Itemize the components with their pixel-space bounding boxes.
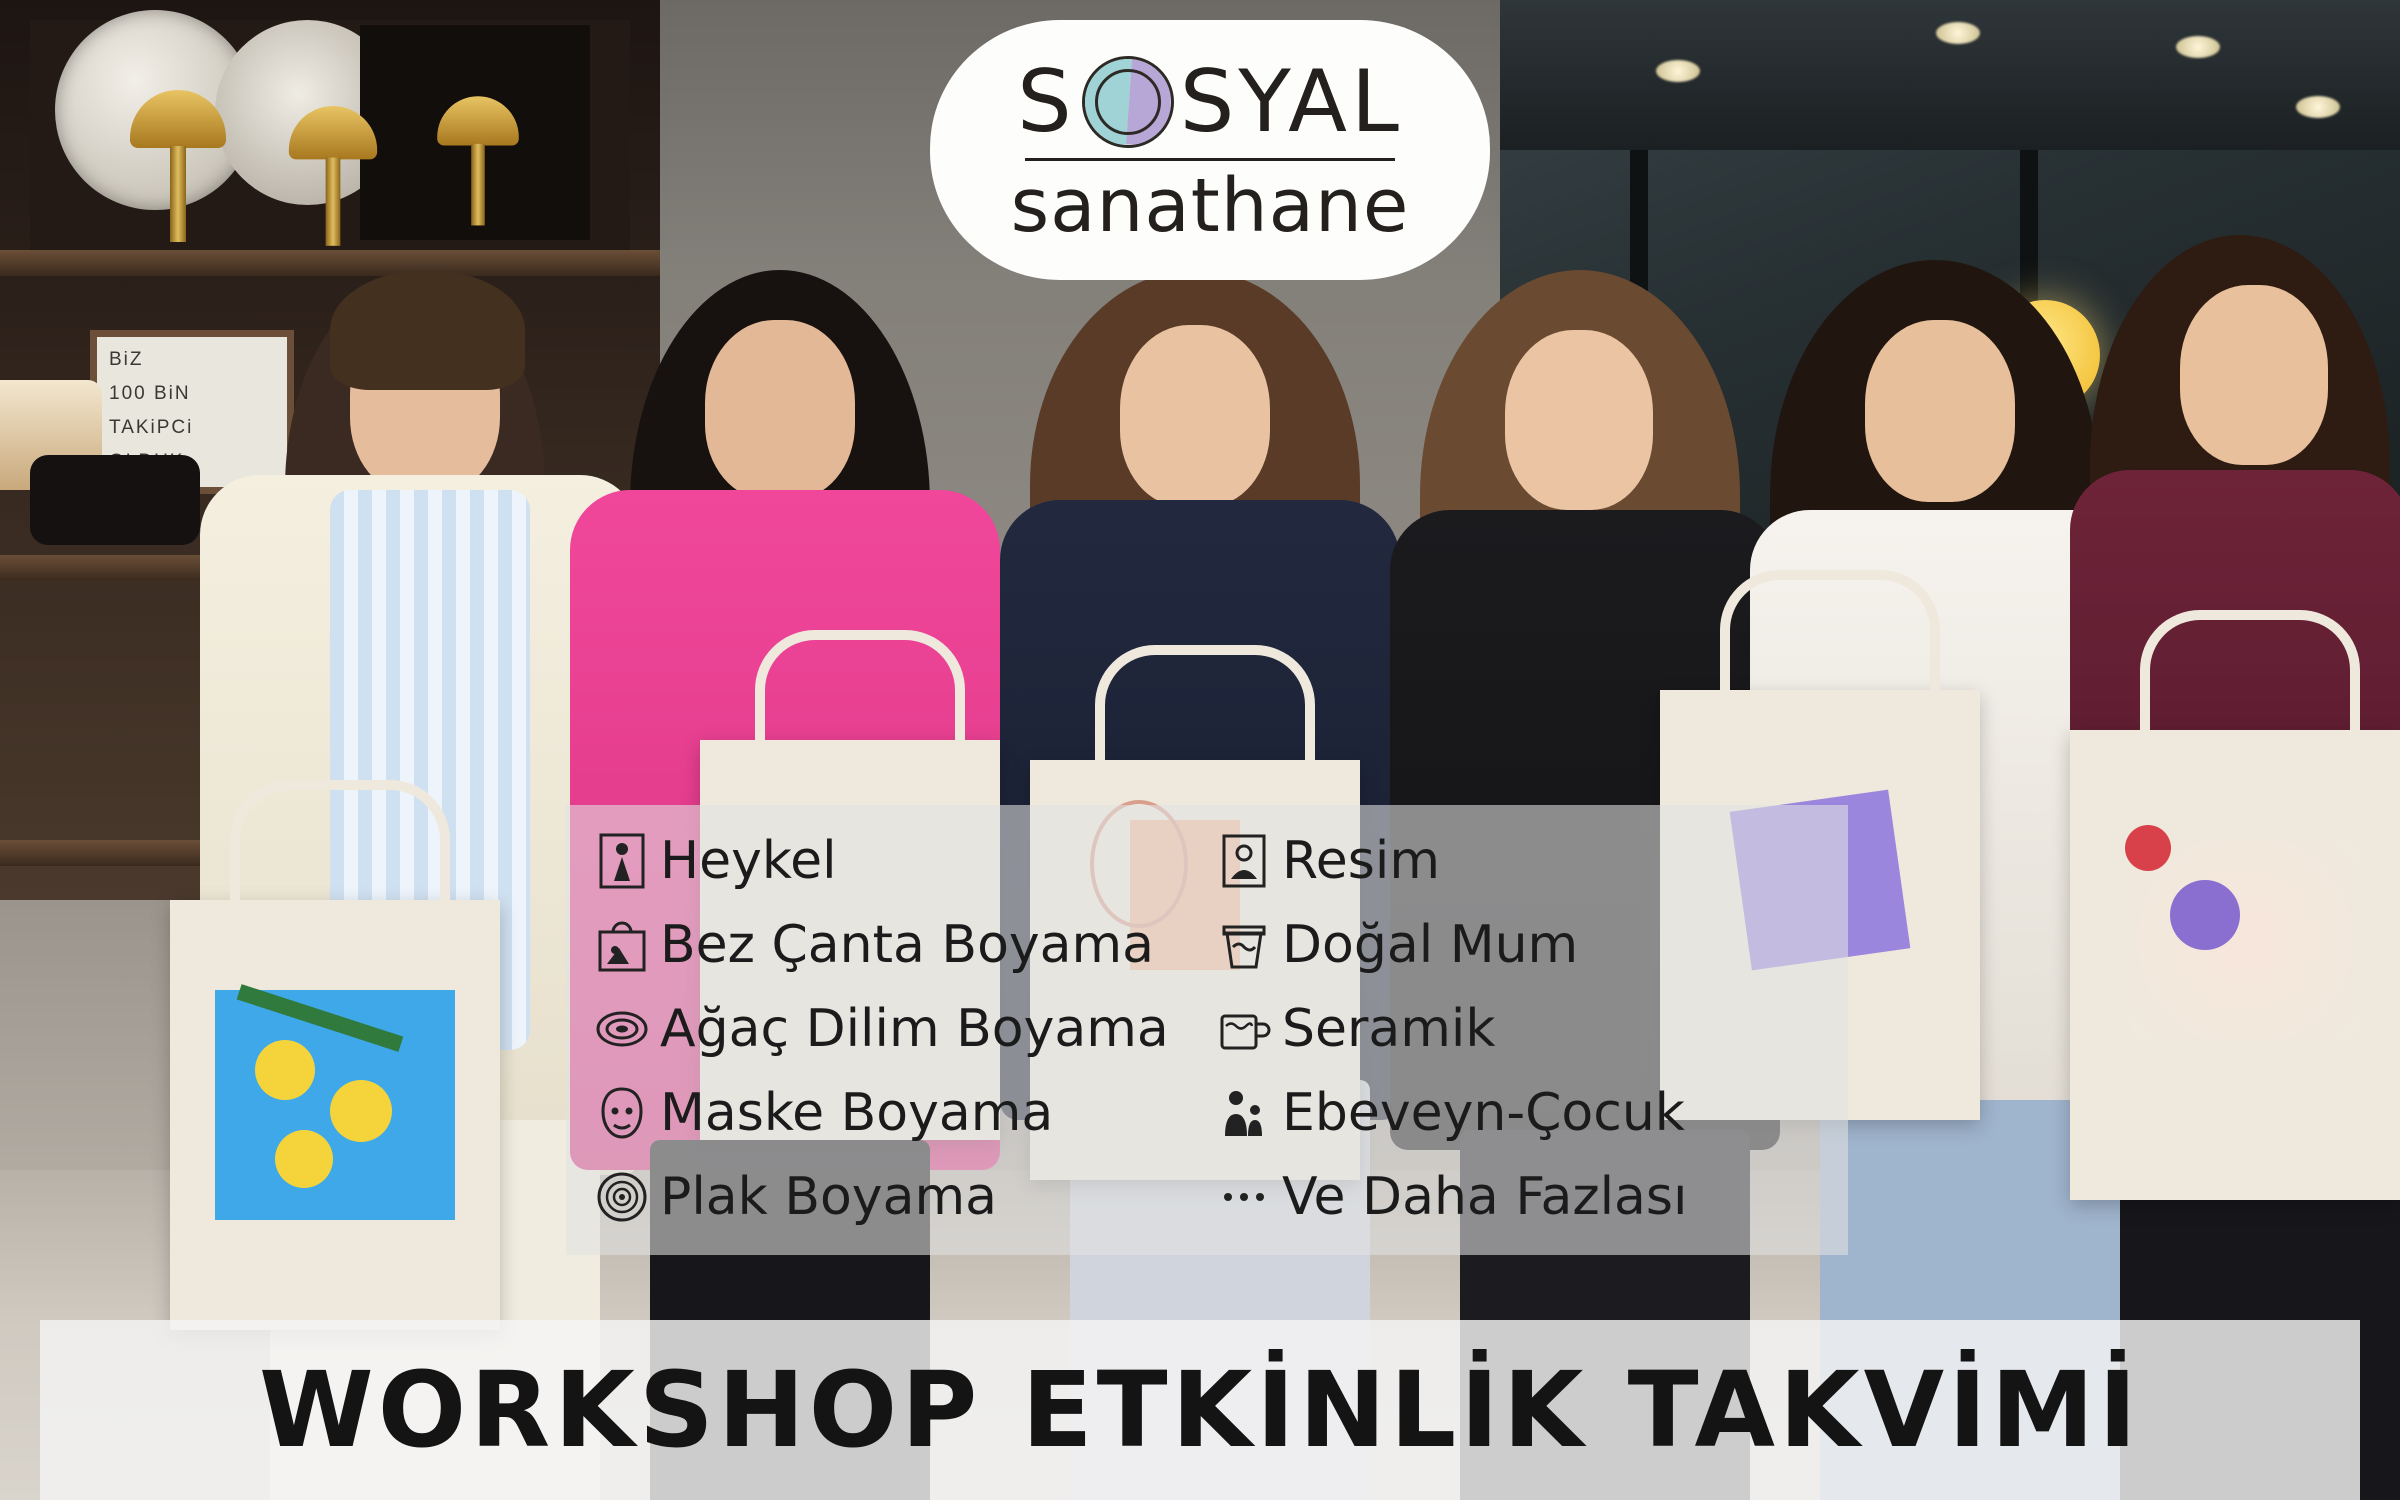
service-item: Plak Boyama <box>584 1155 1169 1239</box>
service-item: Maske Boyama <box>584 1071 1169 1155</box>
service-label: Plak Boyama <box>660 1167 997 1227</box>
service-item: Ağaç Dilim Boyama <box>584 987 1169 1071</box>
brand-logo: S SYAL sanathane <box>930 20 1490 280</box>
circle-logo-icon <box>1082 56 1174 148</box>
candle-bucket-icon <box>1206 912 1282 978</box>
services-column-left: Heykel Bez Çanta Boyama Ağaç Dilim Boyam… <box>584 819 1169 1239</box>
service-label: Maske Boyama <box>660 1083 1053 1143</box>
poster-image: BiZ 100 BiN TAKiPCi OLDUK <box>0 0 2400 1500</box>
bottom-banner: WORKSHOP ETKİNLİK TAKVİMİ <box>40 1320 2360 1500</box>
service-item: Ebeveyn-Çocuk <box>1206 1071 1687 1155</box>
service-label: Seramik <box>1282 999 1495 1059</box>
mask-icon <box>584 1080 660 1146</box>
tote-bag-lemons <box>170 900 500 1330</box>
logo-divider <box>1025 158 1395 161</box>
services-column-right: Resim Doğal Mum Seramik Ebeveyn-Çocuk <box>1206 819 1687 1239</box>
banner-title: WORKSHOP ETKİNLİK TAKVİMİ <box>259 1349 2141 1471</box>
service-item: Seramik <box>1206 987 1687 1071</box>
service-item: Ve Daha Fazlası <box>1206 1155 1687 1239</box>
logo-wordmark: S SYAL <box>1017 52 1403 152</box>
service-item: Resim <box>1206 819 1687 903</box>
tote-bag-butterfly <box>2070 730 2400 1200</box>
tote-bag-icon <box>584 912 660 978</box>
service-item: Doğal Mum <box>1206 903 1687 987</box>
service-item: Heykel <box>584 819 1169 903</box>
ceramic-mug-icon <box>1206 996 1282 1062</box>
service-label: Doğal Mum <box>1282 915 1578 975</box>
service-label: Resim <box>1282 831 1440 891</box>
wood-slice-icon <box>584 996 660 1062</box>
services-panel: Heykel Bez Çanta Boyama Ağaç Dilim Boyam… <box>566 805 1848 1255</box>
parent-child-icon <box>1206 1080 1282 1146</box>
service-label: Heykel <box>660 831 837 891</box>
service-label: Ağaç Dilim Boyama <box>660 999 1169 1059</box>
service-label: Ebeveyn-Çocuk <box>1282 1083 1685 1143</box>
painting-frame-icon <box>1206 828 1282 894</box>
sculpture-icon <box>584 828 660 894</box>
logo-letters-syal: SYAL <box>1180 52 1403 152</box>
service-label: Ve Daha Fazlası <box>1282 1167 1687 1227</box>
ellipsis-icon <box>1206 1164 1282 1230</box>
service-item: Bez Çanta Boyama <box>584 903 1169 987</box>
service-label: Bez Çanta Boyama <box>660 915 1154 975</box>
logo-letter-s: S <box>1017 52 1076 152</box>
vinyl-record-icon <box>584 1164 660 1230</box>
logo-subtitle: sanathane <box>1011 163 1410 249</box>
